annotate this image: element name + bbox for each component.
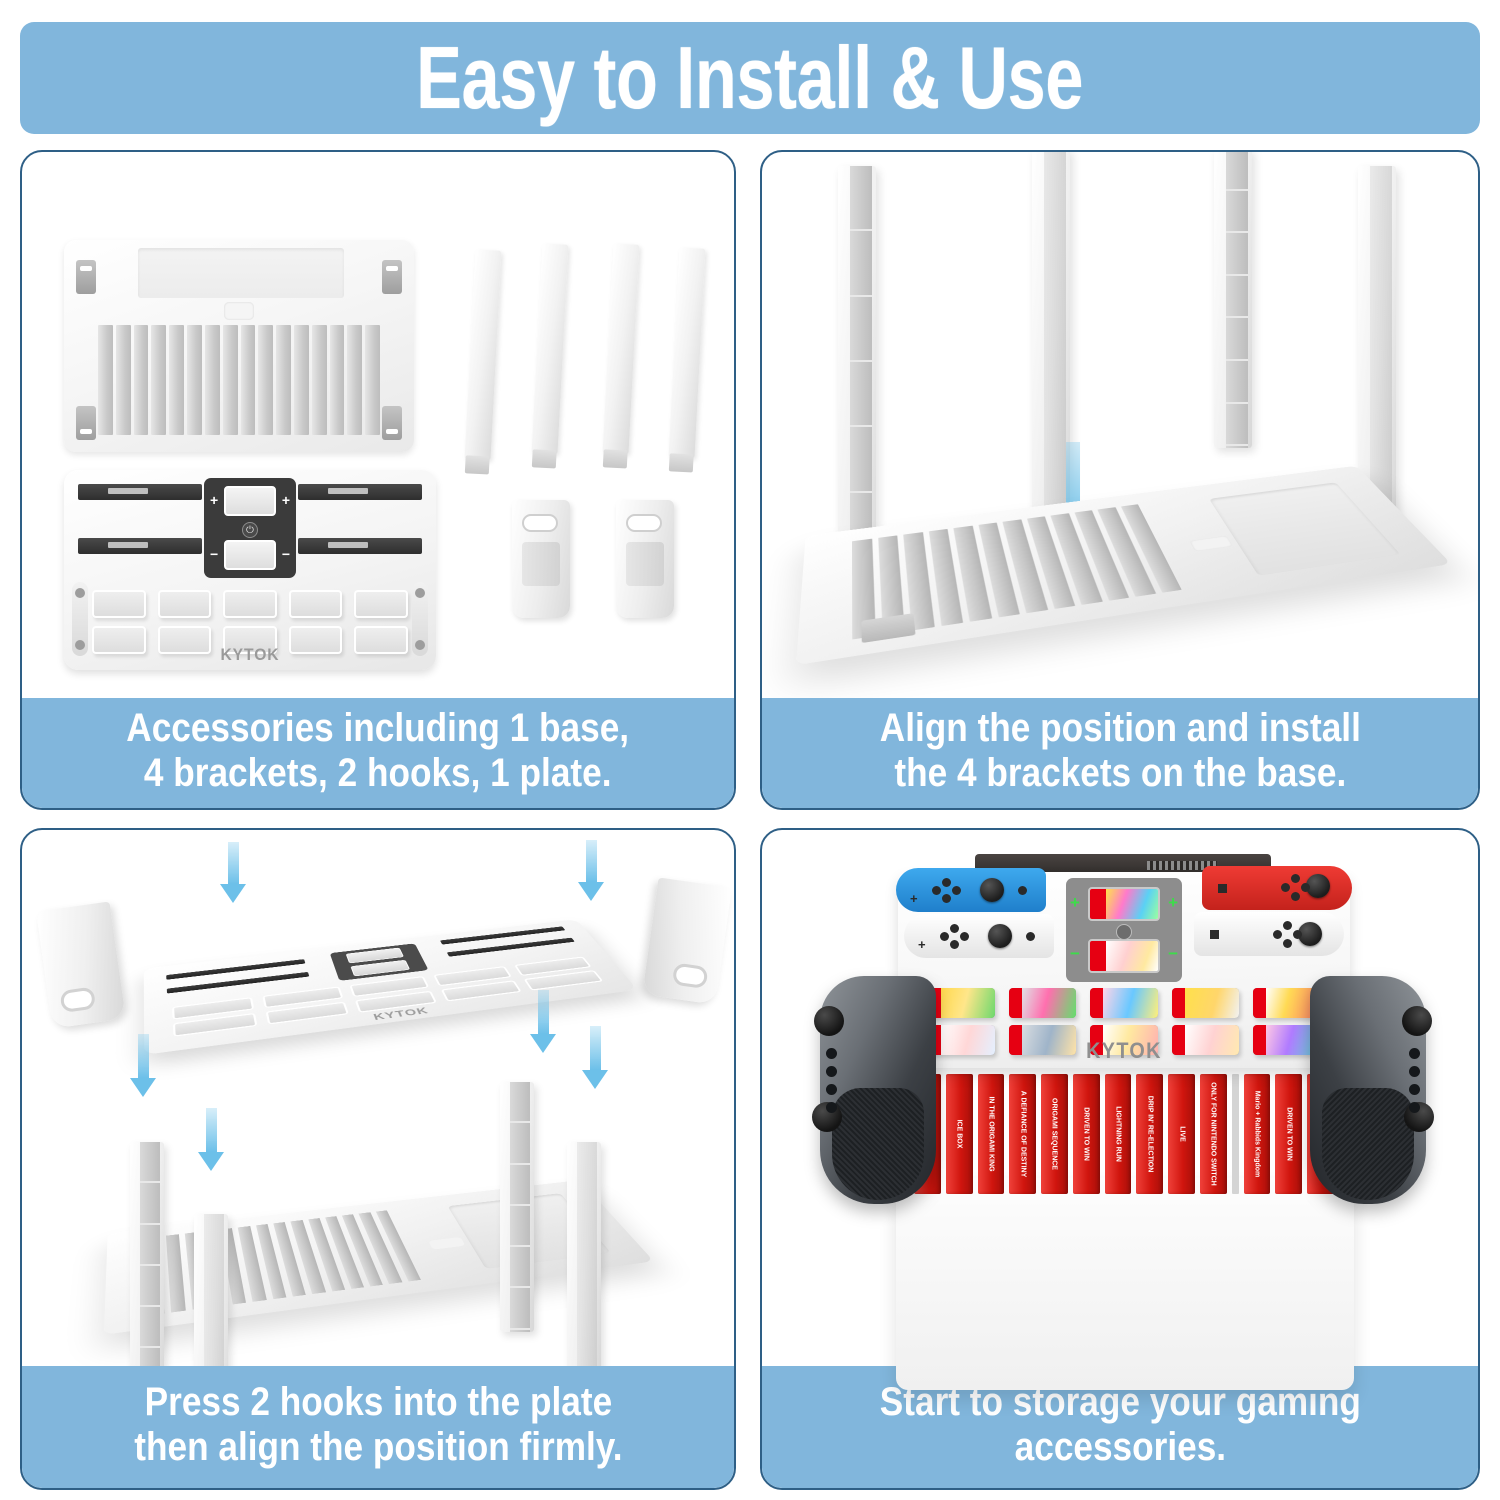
panel-1-caption: Accessories including 1 base, 4 brackets… — [22, 698, 734, 808]
stand-lower-frame — [896, 1178, 1354, 1390]
joycon-rail — [78, 484, 202, 500]
game-case: ONLY FOR NINTENDO SWITCH — [1200, 1074, 1227, 1194]
bracket-part — [465, 249, 502, 460]
base-part-3d — [796, 466, 1451, 665]
game-case: DRIVEN TO WIN — [1073, 1074, 1100, 1194]
bracket-socket-bottom-left — [76, 406, 96, 440]
minus-marker: − — [210, 547, 218, 561]
brand-logo: KYTOK — [921, 1038, 1328, 1064]
bracket-part — [669, 247, 706, 458]
dock-card-slot — [224, 540, 276, 570]
install-arrow-icon — [530, 990, 556, 1053]
plate-center-dock: + + − − — [1066, 878, 1182, 982]
bracket-part — [532, 243, 569, 454]
plate-center-dock: + + − − ⏻ — [204, 478, 296, 578]
base-part — [64, 240, 414, 452]
panel-install-brackets: Align the position and install the 4 bra… — [760, 150, 1480, 810]
white-joycon-top-right — [1194, 912, 1344, 956]
plus-marker: + — [1070, 894, 1080, 911]
base-nub — [1189, 536, 1233, 552]
panel-3-caption: Press 2 hooks into the plate then align … — [22, 1366, 734, 1488]
bracket-part — [603, 243, 640, 454]
game-case: LIVE — [1168, 1074, 1195, 1194]
game-case: ICE BOX — [946, 1074, 973, 1194]
game-case: Mario + Rabbids Kingdom — [1244, 1074, 1271, 1194]
plate-part: + + − − ⏻ — [64, 470, 436, 670]
install-arrow-icon — [578, 840, 604, 901]
bracket-socket-bottom-right — [382, 406, 402, 440]
hook-slot — [626, 514, 662, 532]
bracket-socket-top-left — [76, 260, 96, 294]
game-card — [1172, 988, 1239, 1018]
joycon-rail — [298, 484, 422, 500]
red-joycon — [1202, 866, 1352, 910]
panel-2-illustration — [762, 152, 1478, 698]
bracket-post — [567, 1142, 601, 1378]
stand-top-tray: + + — [898, 872, 1350, 1068]
panel-4-illustration: ESCAPE ICE BOX IN THE ORIGAMI KING A DEF… — [762, 830, 1478, 1366]
hook-slot — [522, 514, 558, 532]
panel-1-illustration: + + − − ⏻ — [22, 152, 734, 698]
assembled-stand: ESCAPE ICE BOX IN THE ORIGAMI KING A DEF… — [836, 848, 1410, 1428]
game-case-row: ESCAPE ICE BOX IN THE ORIGAMI KING A DEF… — [914, 1074, 1334, 1194]
pro-controller-left — [820, 976, 936, 1204]
page-title: Easy to Install & Use — [416, 34, 1083, 122]
plate-center-dock — [330, 943, 429, 980]
base-slot-fins — [852, 504, 1182, 639]
minus-marker: − — [1070, 945, 1080, 962]
base-console-trough — [1209, 482, 1401, 575]
caption-text: Start to storage your gaming accessories… — [879, 1380, 1360, 1470]
power-icon: ⏻ — [242, 522, 258, 538]
power-icon — [1116, 924, 1132, 940]
game-case: LIGHTNING RUN — [1105, 1074, 1132, 1194]
blue-joycon: + — [896, 868, 1046, 912]
plus-marker: + — [210, 493, 218, 507]
plate-part-3d: KYTOK — [144, 919, 638, 1055]
game-card — [928, 988, 995, 1018]
dock-game-card — [1088, 939, 1160, 973]
game-card — [1090, 988, 1157, 1018]
card-slot — [223, 590, 277, 618]
minus-marker: − — [1168, 945, 1178, 962]
header-banner: Easy to Install & Use — [20, 22, 1480, 134]
bracket-post — [500, 1082, 534, 1332]
dock-game-card — [1088, 887, 1160, 921]
game-case: A DEFIANCE OF DESTINY — [1009, 1074, 1036, 1194]
base-slot-fins — [148, 1210, 421, 1315]
card-slot — [92, 590, 146, 618]
base-nub — [428, 1237, 465, 1250]
install-arrow-icon — [130, 1034, 156, 1097]
panel-2-caption: Align the position and install the 4 bra… — [762, 698, 1478, 808]
game-case: ORIGAMI SEQUENCE — [1041, 1074, 1068, 1194]
dock-card-slot — [224, 486, 276, 516]
game-case: IN THE ORIGAMI KING — [978, 1074, 1005, 1194]
panel-attach-hooks: KYTOK Press 2 hooks into the plate then … — [20, 828, 736, 1490]
joycon-rail — [298, 538, 422, 554]
caption-text: Accessories including 1 base, 4 brackets… — [127, 706, 630, 796]
hook-part — [512, 500, 570, 620]
bracket-post — [130, 1142, 164, 1392]
caption-text: Align the position and install the 4 bra… — [879, 706, 1360, 796]
base-slot-fins — [98, 325, 380, 435]
caption-text: Press 2 hooks into the plate then align … — [134, 1380, 622, 1470]
plus-marker: + — [1168, 894, 1178, 911]
bracket-socket-top-right — [382, 260, 402, 294]
plus-marker: + — [282, 493, 290, 507]
joycon-rail — [78, 538, 202, 554]
hook-part — [642, 877, 732, 1004]
card-slot — [289, 590, 343, 618]
panel-3-illustration: KYTOK — [22, 830, 734, 1366]
game-card — [1009, 988, 1076, 1018]
install-arrow-icon — [220, 842, 246, 903]
card-slot — [354, 590, 408, 618]
game-case: DRIP IN' RE-ELECTION — [1136, 1074, 1163, 1194]
install-arrow-icon — [198, 1108, 224, 1171]
brand-logo: KYTOK — [79, 645, 421, 665]
minus-marker: − — [282, 547, 290, 561]
install-arrow-icon — [582, 1026, 608, 1089]
hook-part — [616, 500, 674, 620]
pro-controller-right — [1310, 976, 1426, 1204]
bracket-post — [1214, 150, 1252, 448]
card-slot — [158, 590, 212, 618]
infographic-page: Easy to Install & Use — [0, 0, 1500, 1500]
hook-part — [36, 901, 126, 1028]
panel-finished-setup: ESCAPE ICE BOX IN THE ORIGAMI KING A DEF… — [760, 828, 1480, 1490]
base-well — [138, 248, 344, 298]
white-joycon-top-left: + — [904, 914, 1054, 958]
base-nub — [224, 302, 254, 320]
panel-accessories: + + − − ⏻ — [20, 150, 736, 810]
game-case: DRIVEN TO WIN — [1275, 1074, 1302, 1194]
